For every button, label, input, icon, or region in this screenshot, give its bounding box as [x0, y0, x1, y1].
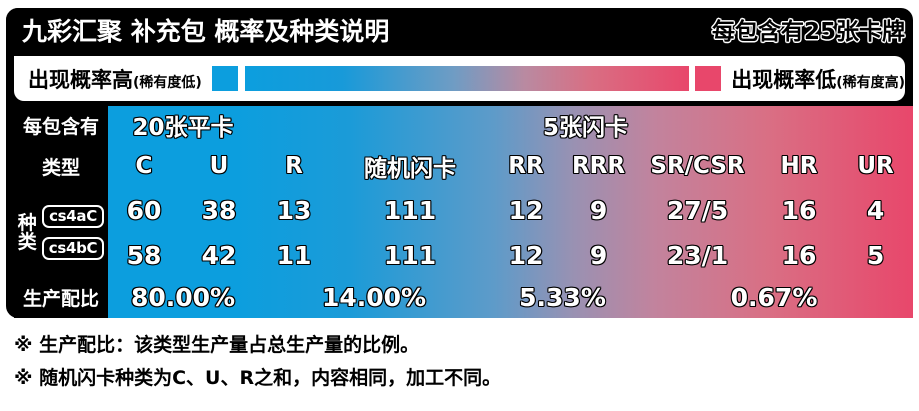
cell-cs4bc-r: 11 — [258, 233, 330, 278]
pack-count-label: 每包含有25张卡牌 — [712, 12, 905, 46]
kind-char-2: 类 — [18, 233, 37, 252]
cell-cs4ac-hr: 16 — [760, 188, 838, 233]
cell-cs4ac-u: 38 — [180, 188, 258, 233]
col-header-rrr: RRR — [562, 145, 635, 189]
rarity-legend: 出现概率高 (稀有度低) 出现概率低 (稀有度高) — [14, 56, 905, 101]
col-header-c: C — [108, 145, 180, 189]
ratio-cell-067: 0.67% — [635, 277, 913, 318]
cell-cs4bc-u: 42 — [180, 233, 258, 278]
cell-cs4bc-hr: 16 — [760, 233, 838, 278]
col-header-random: 随机闪卡 — [330, 145, 490, 189]
cell-cs4ac-c: 60 — [108, 188, 180, 233]
legend-right-label: 出现概率低 (稀有度高) — [731, 64, 905, 94]
page-title: 九彩汇聚 补充包 概率及种类说明 — [6, 12, 389, 48]
table-row-ratio: 生产配比 80.00% 14.00% 5.33% 0.67% — [14, 277, 913, 318]
table-row: 种 类 cs4aC cs4bC 60 38 13 111 12 9 27/5 1… — [14, 188, 913, 233]
legend-gradient-bar — [245, 66, 689, 91]
cell-cs4bc-rrr: 9 — [562, 233, 635, 278]
legend-left-main: 出现概率高 — [28, 64, 133, 94]
footnote-1: ※ 生产配比：该类型生产量占总生产量的比例。 — [14, 330, 904, 357]
cell-cs4ac-rr: 12 — [490, 188, 562, 233]
ratio-cell-14: 14.00% — [258, 277, 490, 318]
cell-cs4ac-rrr: 9 — [562, 188, 635, 233]
col-header-rr: RR — [490, 145, 562, 189]
col-header-ur: UR — [838, 145, 913, 189]
group-cell-normal: 20张平卡 — [108, 106, 258, 145]
ratio-cell-80: 80.00% — [108, 277, 258, 318]
footnotes: ※ 生产配比：该类型生产量占总生产量的比例。 ※ 随机闪卡种类为C、U、R之和，… — [14, 330, 904, 396]
row-label-ratio: 生产配比 — [14, 277, 108, 318]
table-row: 58 42 11 111 12 9 23/1 16 5 — [14, 233, 913, 278]
cell-cs4bc-c: 58 — [108, 233, 180, 278]
table-row-type: 类型 C U R 随机闪卡 RR RRR SR/CSR HR UR — [14, 145, 913, 189]
set-badge-cs4ac: cs4aC — [42, 205, 105, 228]
group-cell-shiny: 5张闪卡 — [258, 106, 913, 145]
rarity-table: 每包含有 20张平卡 5张闪卡 类型 C U R 随机闪卡 RR RRR SR/… — [14, 106, 913, 318]
set-badge-cs4bc: cs4bC — [42, 237, 105, 260]
legend-left-sub: (稀有度低) — [133, 72, 202, 92]
legend-left-label: 出现概率高 (稀有度低) — [28, 64, 202, 94]
row-label-per-pack: 每包含有 — [14, 106, 108, 145]
cell-cs4ac-r: 13 — [258, 188, 330, 233]
cell-cs4bc-ur: 5 — [838, 233, 913, 278]
footnote-2: ※ 随机闪卡种类为C、U、R之和，内容相同，加工不同。 — [14, 363, 904, 390]
cell-cs4bc-random: 111 — [330, 233, 490, 278]
row-label-type: 类型 — [14, 145, 108, 189]
title-bar: 九彩汇聚 补充包 概率及种类说明 — [6, 8, 406, 52]
col-header-u: U — [180, 145, 258, 189]
col-header-hr: HR — [760, 145, 838, 189]
legend-right-main: 出现概率低 — [731, 64, 836, 94]
col-header-srcsr: SR/CSR — [635, 145, 760, 189]
legend-blue-chip — [212, 66, 238, 91]
cell-cs4ac-ur: 4 — [838, 188, 913, 233]
cell-cs4ac-random: 111 — [330, 188, 490, 233]
ratio-cell-533: 5.33% — [490, 277, 635, 318]
kind-char-1: 种 — [18, 214, 37, 233]
legend-red-chip — [695, 66, 721, 91]
cell-cs4bc-rr: 12 — [490, 233, 562, 278]
row-label-kind: 种 类 cs4aC cs4bC — [14, 188, 108, 277]
cell-cs4bc-srcsr: 23/1 — [635, 233, 760, 278]
col-header-r: R — [258, 145, 330, 189]
table-row-per-pack: 每包含有 20张平卡 5张闪卡 — [14, 106, 913, 145]
kind-label-text: 种 类 — [18, 214, 37, 252]
legend-right-sub: (稀有度高) — [836, 72, 905, 92]
cell-cs4ac-srcsr: 27/5 — [635, 188, 760, 233]
